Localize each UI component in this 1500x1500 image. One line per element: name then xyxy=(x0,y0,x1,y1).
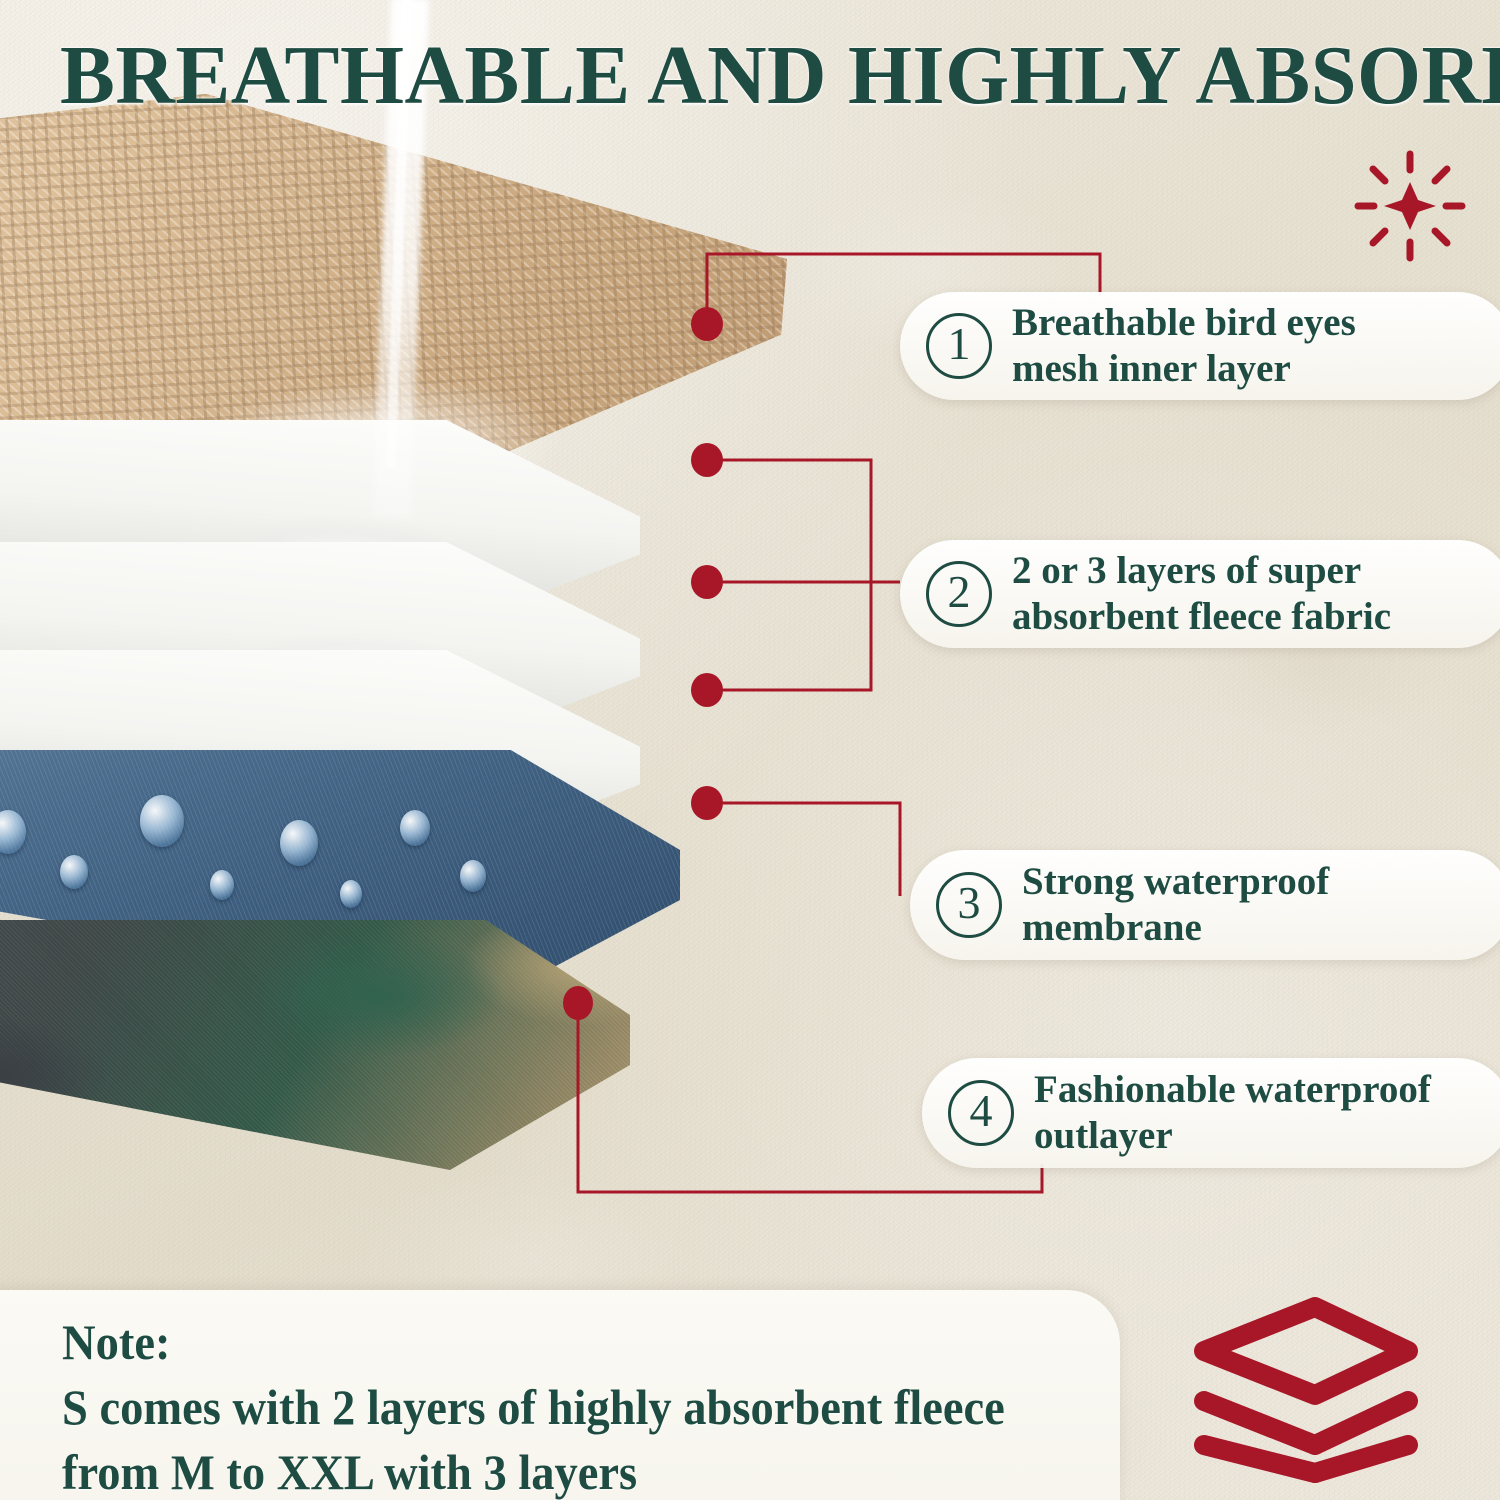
leader-dot-2a xyxy=(691,443,723,477)
callout-1[interactable]: 1 Breathable bird eyes mesh inner layer xyxy=(900,292,1500,400)
callout-3[interactable]: 3 Strong waterproof membrane xyxy=(910,850,1500,960)
leader-line-3 xyxy=(707,803,900,896)
layers-stack-icon xyxy=(1190,1295,1440,1485)
callout-3-number: 3 xyxy=(936,872,1002,938)
callout-4-label: Fashionable waterproof outlayer xyxy=(1034,1067,1431,1159)
callout-leader-lines xyxy=(0,0,1500,1500)
leader-dots xyxy=(563,307,723,1020)
leader-dot-4 xyxy=(563,986,593,1020)
callout-4[interactable]: 4 Fashionable waterproof outlayer xyxy=(922,1058,1500,1168)
callout-2-label: 2 or 3 layers of super absorbent fleece … xyxy=(1012,548,1391,640)
callout-2[interactable]: 2 2 or 3 layers of super absorbent fleec… xyxy=(900,540,1500,648)
callout-1-number: 1 xyxy=(926,313,992,379)
callout-1-label: Breathable bird eyes mesh inner layer xyxy=(1012,300,1356,392)
callout-3-label: Strong waterproof membrane xyxy=(1022,859,1329,951)
leader-dot-3 xyxy=(691,786,723,820)
callout-4-number: 4 xyxy=(948,1080,1014,1146)
infographic-poster: BREATHABLE AND HIGHLY ABSORBENT xyxy=(0,0,1500,1500)
callout-2-number: 2 xyxy=(926,561,992,627)
leader-line-2-bracket xyxy=(707,460,871,690)
leader-dot-2b xyxy=(691,565,723,599)
leader-dot-1 xyxy=(691,307,723,341)
note-text: Note: S comes with 2 layers of highly ab… xyxy=(62,1310,1048,1500)
leader-dot-2c xyxy=(691,673,723,707)
